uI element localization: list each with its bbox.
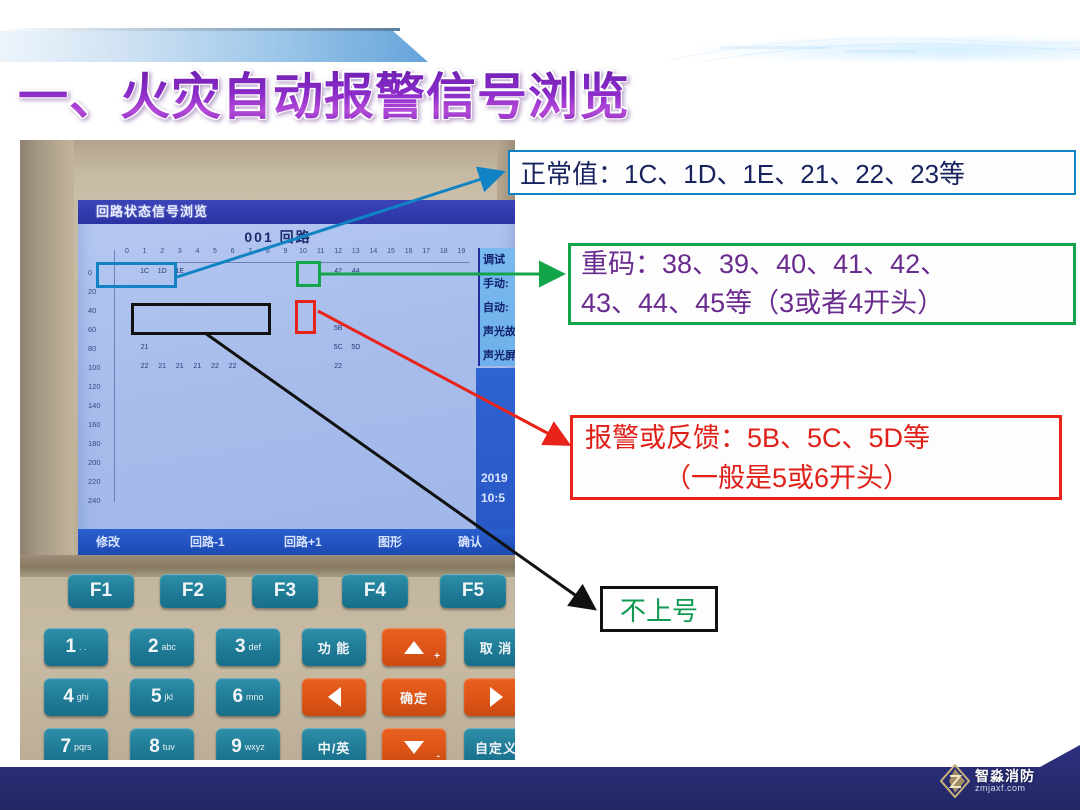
key-label: 中/英 [318,738,351,757]
grid-cell: 5D [347,344,365,351]
lcd-menu-item[interactable]: 调试 [480,248,515,272]
grid-col-header: 12 [329,248,347,255]
key-digit: 3 [235,636,246,658]
lcd-header-title: 回路状态信号浏览 [78,200,515,224]
grid-row-label: 220 [88,477,112,486]
arrow-left-icon [328,687,341,707]
key-label: 自定义 [475,738,515,757]
red-highlight-box [295,300,316,334]
callout-no-number-line-1: 不上号 [620,591,698,628]
key-digit: 4 [63,686,74,708]
key-letters: mno [246,692,264,702]
key-letters: abc [162,642,177,652]
key-功能[interactable]: 功 能 [302,628,366,666]
key-2[interactable]: 2abc [130,628,194,666]
grid-row-label: 180 [88,439,112,448]
callout-duplicate-code: 重码：38、39、40、41、42、 43、44、45等（3或者4开头） [568,243,1076,325]
grid-cell: 21 [136,344,154,351]
lcd-menu-item[interactable]: 声光屏 [480,344,515,368]
callout-alarm-line-1: 报警或反馈：5B、5C、5D等 [585,418,1059,458]
key-中英[interactable]: 中/英 [302,728,366,760]
lcd-bottom-toolbar[interactable]: 修改回路-1回路+1图形确认 [78,529,515,555]
arrow-down-icon [404,741,424,754]
key-digit: 9 [231,736,242,758]
key-label: 功 能 [318,638,351,657]
grid-cell: 5B [329,325,347,332]
callout-duplicate-line-1: 重码：38、39、40、41、42、 [581,245,1073,284]
key-f4[interactable]: F4 [342,574,408,608]
lcd-toolbar-4[interactable]: 图形 [378,529,402,555]
key-3[interactable]: 3def [216,628,280,666]
callout-alarm-line-2: （一般是5或6开头） [585,458,1059,498]
slide-canvas: 一、火灾自动报警信号浏览 回路状态信号浏览 001 回路 01234567891… [0,0,1080,810]
grid-row-label: 240 [88,496,112,505]
key-9[interactable]: 9wxyz [216,728,280,760]
lcd-menu-item[interactable]: 自动: [480,296,515,320]
grid-cell: 22 [206,363,224,370]
grid-col-header: 18 [435,248,453,255]
grid-col-header: 11 [312,248,330,255]
page-title: 一、火灾自动报警信号浏览 [18,66,718,128]
grid-col-header: 19 [452,248,470,255]
arrow-up-icon [404,641,424,654]
key-8[interactable]: 8tuv [130,728,194,760]
slide-header-band [0,0,1080,62]
lcd-toolbar-2[interactable]: 回路-1 [190,529,225,555]
grid-col-header: 2 [153,248,171,255]
key-label: F1 [90,580,112,602]
key-1[interactable]: 1. . [44,628,108,666]
grid-row-label: 200 [88,458,112,467]
lcd-toolbar-3[interactable]: 回路+1 [284,529,322,555]
callout-normal-values: 正常值：1C、1D、1E、21、22、23等 [508,150,1076,195]
grid-col-header: 13 [347,248,365,255]
grid-cell: 42 [329,268,347,275]
key-letters: def [249,642,262,652]
grid-cell: 44 [347,268,365,275]
key-f5[interactable]: F5 [440,574,506,608]
lcd-screen: 回路状态信号浏览 001 回路 012345678910111213141516… [78,200,515,555]
grid-col-header: 10 [294,248,312,255]
key-digit: 5 [151,686,162,708]
grid-cell: 5C [329,344,347,351]
grid-row-label: 100 [88,363,112,372]
lcd-clock-date: 2019 [481,468,515,488]
grid-col-header: 17 [417,248,435,255]
grid-col-header: 16 [400,248,418,255]
grid-row-label: 80 [88,344,112,353]
key-label: F3 [274,580,296,602]
brand-logo-icon [940,764,970,798]
grid-row-label: 60 [88,325,112,334]
callout-normal-line-1: 正常值：1C、1D、1E、21、22、23等 [520,154,1074,191]
lcd-menu-item[interactable]: 手动: [480,272,515,296]
grid-row-label: 20 [88,287,112,296]
grid-col-header: 5 [206,248,224,255]
grid-col-header: 6 [224,248,242,255]
callout-no-number: 不上号 [600,586,718,632]
grid-col-header: 15 [382,248,400,255]
callout-alarm-feedback: 报警或反馈：5B、5C、5D等 （一般是5或6开头） [570,415,1062,500]
lcd-clock-time: 10:5 [481,488,515,508]
lcd-clock: 2019 10:5 [478,468,515,510]
key-letters: jkl [165,692,174,702]
key-确定[interactable]: 确定 [382,678,446,716]
key-label: 取 消 [480,638,513,657]
key-取消[interactable]: 取 消 [464,628,515,666]
key-digit: 7 [60,736,71,758]
key-f3[interactable]: F3 [252,574,318,608]
grid-cell: 22 [329,363,347,370]
grid-col-header: 0 [118,248,136,255]
blue-highlight-box [96,262,177,288]
key-digit: 1 [65,636,76,658]
grid-row-label: 140 [88,401,112,410]
key-letters: . . [79,642,87,652]
key-arrow-right[interactable]: 0 [464,678,515,716]
key-corner-label: + [434,651,440,662]
lcd-side-menu[interactable]: 调试手动:自动:声光故声光屏 [478,248,515,366]
green-highlight-box [296,261,321,287]
grid-col-header: 3 [171,248,189,255]
grid-col-header: 8 [259,248,277,255]
grid-cell: 21 [171,363,189,370]
key-6[interactable]: 6mno [216,678,280,716]
watermark-brand-en: zmjaxf.com [975,784,1035,793]
grid-col-header: 1 [136,248,154,255]
key-letters: ghi [77,692,89,702]
grid-row-label: 160 [88,420,112,429]
key-label: F5 [462,580,484,602]
panel-frame-top [20,140,515,198]
key-digit: 6 [232,686,243,708]
grid-col-header: 7 [241,248,259,255]
black-highlight-box [131,303,271,335]
key-arrow-up[interactable]: + [382,628,446,666]
grid-cell: 22 [136,363,154,370]
grid-col-header: 4 [188,248,206,255]
key-7[interactable]: 7pqrs [44,728,108,760]
watermark-brand-cn: 智淼消防 [975,769,1035,784]
grid-cell: 22 [224,363,242,370]
key-自定义[interactable]: 自定义 [464,728,515,760]
key-arrow-down[interactable]: - [382,728,446,760]
grid-row-label: 120 [88,382,112,391]
key-letters: pqrs [74,742,92,752]
key-corner-label: - [437,751,440,760]
key-5[interactable]: 5jkl [130,678,194,716]
key-digit: 8 [149,736,160,758]
grid-cell: 21 [153,363,171,370]
panel-frame-left [20,140,74,570]
lcd-toolbar-5[interactable]: 确认 [458,529,482,555]
key-f2[interactable]: F2 [160,574,226,608]
grid-col-header: 9 [276,248,294,255]
lcd-toolbar-1[interactable]: 修改 [96,529,120,555]
lcd-loop-label: 001 回路 [78,226,478,248]
grid-cell: 21 [188,363,206,370]
key-arrow-left[interactable] [302,678,366,716]
lcd-menu-item[interactable]: 声光故 [480,320,515,344]
grid-row-label: 40 [88,306,112,315]
key-letters: tuv [163,742,175,752]
key-label: F2 [182,580,204,602]
fire-alarm-panel-photo: 回路状态信号浏览 001 回路 012345678910111213141516… [20,140,515,760]
watermark: 智淼消防 zmjaxf.com [940,760,1068,802]
grid-col-header: 14 [364,248,382,255]
key-4[interactable]: 4ghi [44,678,108,716]
grid-column-headers: 012345678910111213141516171819 [118,248,470,261]
callout-duplicate-line-2: 43、44、45等（3或者4开头） [581,284,1073,323]
arrow-right-icon [490,687,503,707]
key-digit: 2 [148,636,159,658]
key-f1[interactable]: F1 [68,574,134,608]
key-letters: wxyz [245,742,265,752]
key-label: 确定 [400,688,428,707]
key-label: F4 [364,580,386,602]
header-arc-decor [660,30,1080,62]
